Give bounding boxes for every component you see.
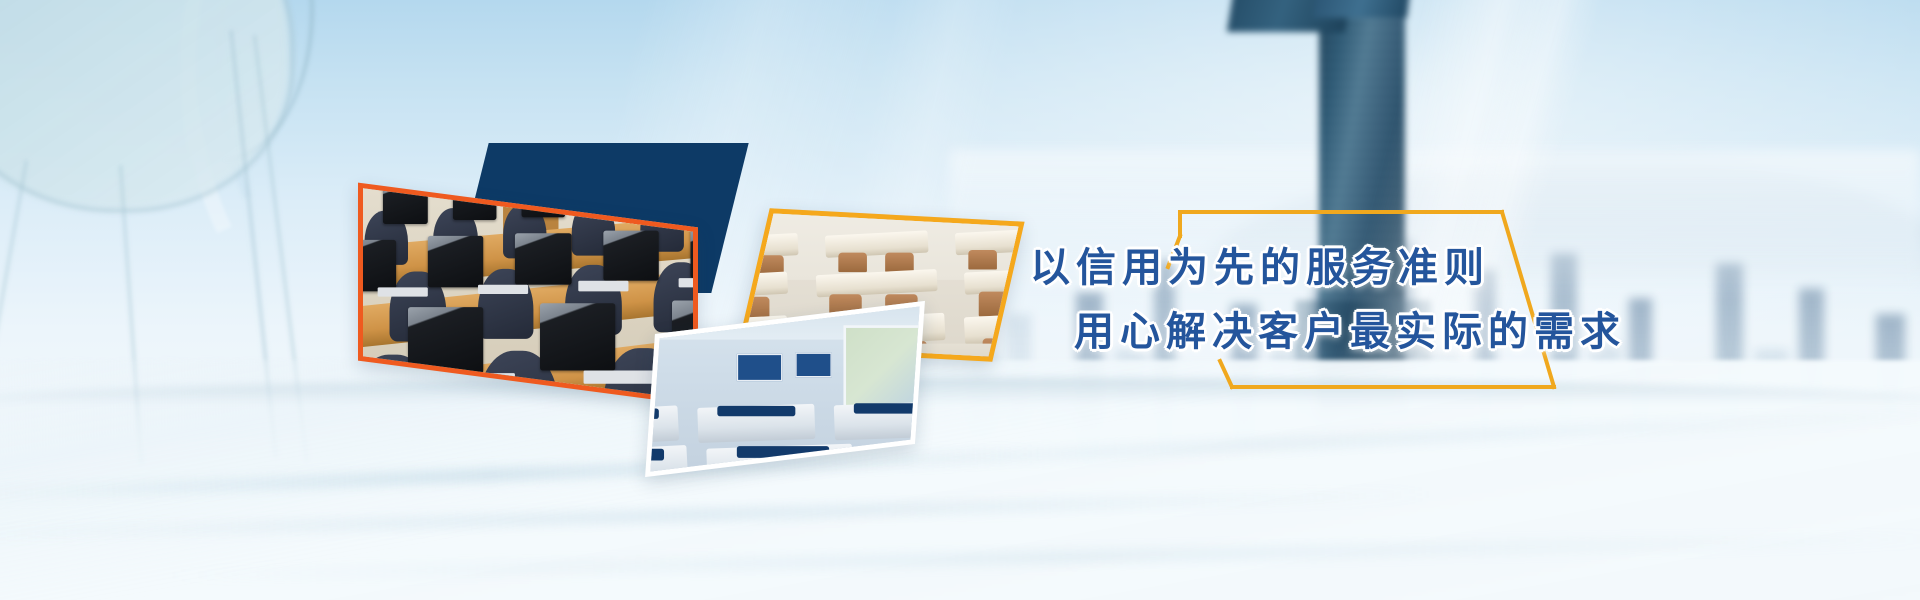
headline-line-2: 用心解决客户最实际的需求 (1030, 300, 1650, 364)
hero-banner: 以信用为先的服务准则 用心解决客户最实际的需求 (0, 0, 1920, 600)
headline-line-1: 以信用为先的服务准则 (1030, 236, 1650, 300)
headline-slogan: 以信用为先的服务准则 用心解决客户最实际的需求 (1030, 236, 1650, 364)
